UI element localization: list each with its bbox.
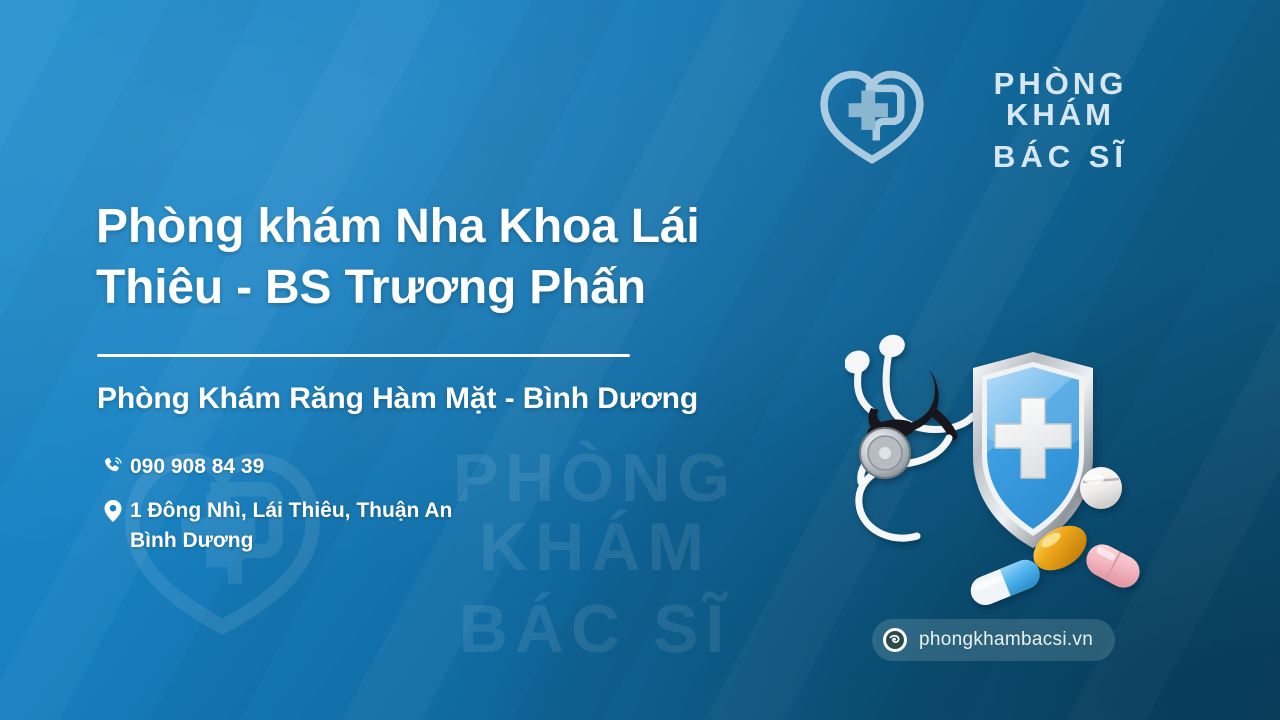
phone-call-icon xyxy=(96,452,130,477)
contact-address-line-1: 1 Đông Nhì, Lái Thiêu, Thuận An xyxy=(130,496,452,526)
medical-shield-icon xyxy=(973,352,1093,548)
page-title: Phòng khám Nha Khoa Lái Thiêu - BS Trươn… xyxy=(96,196,836,319)
contact-address: 1 Đông Nhì, Lái Thiêu, Thuận An Bình Dươ… xyxy=(130,496,452,556)
medical-illustration xyxy=(845,330,1185,630)
contact-address-line-2: Bình Dương xyxy=(130,526,452,556)
watermark-line-2: BÁC SĨ xyxy=(335,595,855,664)
title-divider xyxy=(97,354,630,357)
globe-icon xyxy=(882,627,908,653)
page-subtitle: Phòng Khám Răng Hàm Mặt - Bình Dương xyxy=(97,382,887,416)
contact-address-row[interactable]: 1 Đông Nhì, Lái Thiêu, Thuận An Bình Dươ… xyxy=(96,496,716,556)
brand-logo-line-1: PHÒNG KHÁM xyxy=(938,68,1183,130)
brand-logo-text: PHÒNG KHÁM BÁC SĨ xyxy=(938,68,1183,172)
brand-logo-line-2: BÁC SĨ xyxy=(938,141,1183,172)
pill-blue-white-capsule xyxy=(966,556,1044,610)
pill-pink-oblong xyxy=(1081,539,1145,594)
stethoscope-icon xyxy=(845,332,973,539)
contact-phone-number: 090 908 84 39 xyxy=(130,452,264,482)
contact-phone-row[interactable]: 090 908 84 39 xyxy=(96,452,716,482)
website-url: phongkhambacsi.vn xyxy=(919,629,1093,651)
contact-block: 090 908 84 39 1 Đông Nhì, Lái Thiêu, Thu… xyxy=(96,452,716,569)
heart-medical-cross-icon xyxy=(818,66,926,166)
brand-logo: PHÒNG KHÁM BÁC SĨ xyxy=(818,62,1178,172)
location-pin-icon xyxy=(96,496,130,523)
clinic-banner: PHÒNG KHÁM BÁC SĨ PHÒNG KHÁM BÁC SĨ xyxy=(0,0,1280,720)
pill-white-round-tablet xyxy=(1080,467,1122,509)
website-badge[interactable]: phongkhambacsi.vn xyxy=(872,619,1115,661)
